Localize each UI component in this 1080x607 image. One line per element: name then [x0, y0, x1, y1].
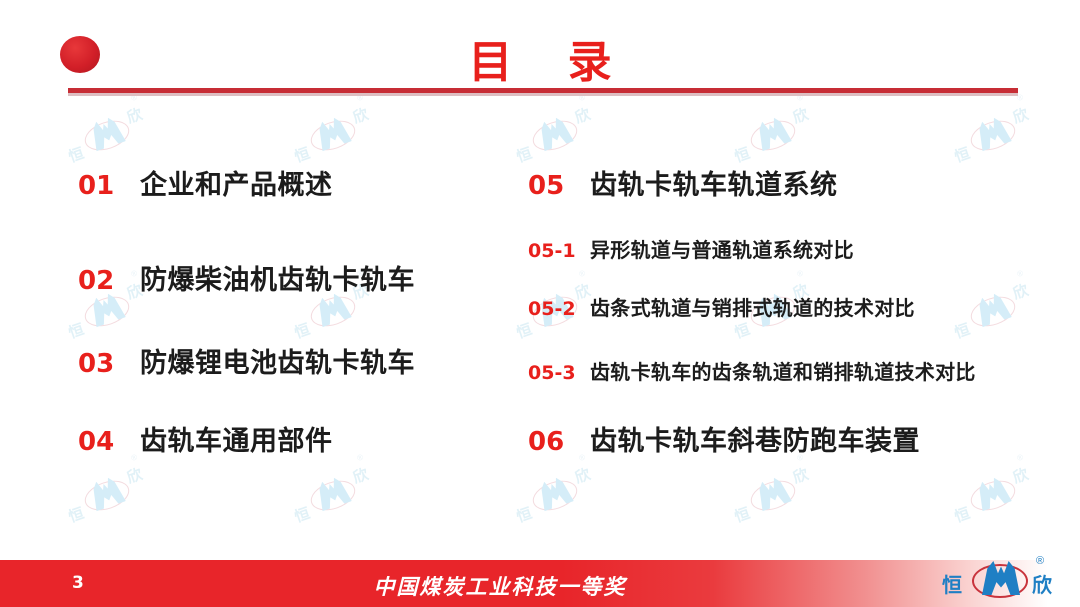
toc-item-label: 企业和产品概述: [140, 163, 333, 202]
brand-logo-left-char: 恒: [942, 569, 962, 598]
toc-item-label: 齿轨卡轨车斜巷防跑车装置: [590, 419, 920, 458]
toc-item-05-2[interactable]: 05-2齿条式轨道与销排式轨道的技术对比: [528, 292, 915, 321]
toc-item-label: 异形轨道与普通轨道系统对比: [590, 234, 854, 263]
toc-item-label: 齿条式轨道与销排式轨道的技术对比: [590, 292, 915, 321]
brand-logo: 恒 欣 ®: [938, 556, 1064, 604]
toc-item-number: 03: [78, 349, 140, 379]
registered-mark-icon: ®: [1036, 555, 1044, 567]
toc-item-05-3[interactable]: 05-3齿轨卡轨车的齿条轨道和销排轨道技术对比: [528, 356, 976, 385]
toc-item-number: 05: [528, 171, 590, 201]
award-caption: 中国煤炭工业科技一等奖: [0, 571, 1000, 601]
table-of-contents: 01企业和产品概述02防爆柴油机齿轨卡轨车03防爆锂电池齿轨卡轨车04齿轨车通用…: [0, 0, 1080, 607]
toc-item-04[interactable]: 04齿轨车通用部件: [78, 419, 333, 458]
slide-footer: 3 中国煤炭工业科技一等奖: [0, 560, 1080, 607]
toc-item-label: 齿轨卡轨车轨道系统: [590, 163, 838, 202]
toc-item-label: 齿轨车通用部件: [140, 419, 333, 458]
toc-item-02[interactable]: 02防爆柴油机齿轨卡轨车: [78, 258, 415, 297]
presentation-slide: 恒欣®恒欣®恒欣®恒欣®恒欣®恒欣®恒欣®恒欣®恒欣®恒欣®恒欣®恒欣®恒欣®恒…: [0, 0, 1080, 607]
toc-item-label: 齿轨卡轨车的齿条轨道和销排轨道技术对比: [590, 356, 976, 385]
toc-item-05-1[interactable]: 05-1异形轨道与普通轨道系统对比: [528, 234, 854, 263]
toc-item-number: 05-1: [528, 240, 590, 262]
toc-item-05[interactable]: 05齿轨卡轨车轨道系统: [528, 163, 838, 202]
toc-item-03[interactable]: 03防爆锂电池齿轨卡轨车: [78, 341, 415, 380]
toc-item-number: 05-2: [528, 298, 590, 320]
toc-item-06[interactable]: 06齿轨卡轨车斜巷防跑车装置: [528, 419, 920, 458]
toc-item-number: 04: [78, 427, 140, 457]
toc-item-number: 02: [78, 266, 140, 296]
toc-item-label: 防爆锂电池齿轨卡轨车: [140, 341, 415, 380]
toc-item-number: 06: [528, 427, 590, 457]
toc-item-label: 防爆柴油机齿轨卡轨车: [140, 258, 415, 297]
toc-item-number: 05-3: [528, 362, 590, 384]
toc-item-01[interactable]: 01企业和产品概述: [78, 163, 333, 202]
brand-logo-right-char: 欣: [1032, 569, 1052, 598]
toc-item-number: 01: [78, 171, 140, 201]
